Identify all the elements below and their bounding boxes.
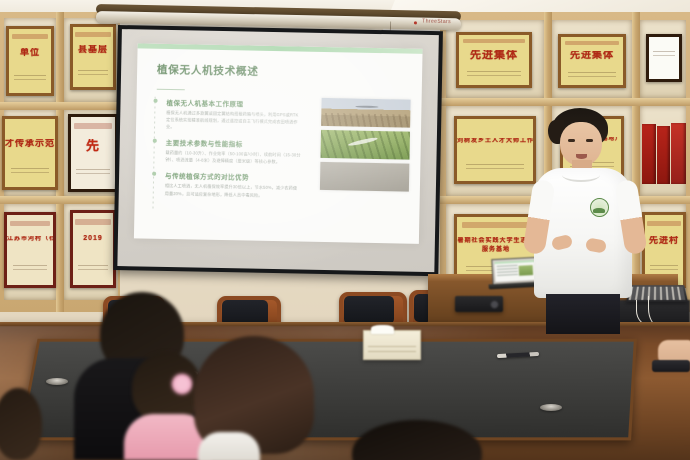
screen-surface: 植保无人机技术概述 植保无人机基本工作原理 植保无人机通过多旋翼或固定翼结构搭载… [117, 29, 438, 272]
presenter-eye-right [586, 139, 593, 142]
projection-screen: 植保无人机技术概述 植保无人机基本工作原理 植保无人机通过多旋翼或固定翼结构搭载… [113, 25, 443, 276]
slide-bullet-1: 植保无人机基本工作原理 植保无人机通过多旋翼或固定翼结构搭载药箱与喷头，利用GP… [153, 96, 302, 132]
plaque-left-mid: 才传承示范基地 [2, 116, 58, 190]
award-cabinet-left: 单位 县基层 才传承示范基地 先 江苏市河村（社区） 2019 [0, 12, 120, 312]
phone-on-table [652, 360, 690, 372]
conference-chair [344, 296, 394, 324]
plaque-text: 先进集体 [459, 50, 529, 65]
audience-left-edge [0, 388, 42, 460]
laptop-slide-text [497, 265, 518, 278]
bullet-body: 植保无人机通过多旋翼或固定翼结构搭载药箱与喷头，利用GPS或RTK定位系统实现精… [166, 109, 302, 133]
slide-image-drone-brown-field [321, 98, 410, 128]
bullet-dot-icon [152, 172, 156, 176]
audience-head [352, 420, 482, 460]
plaque-text: 先 [71, 139, 115, 161]
slide-accent-bar [137, 44, 422, 54]
slide-image-placeholder [320, 162, 409, 192]
bullet-dot-icon [153, 98, 157, 102]
plaque-left-top: 单位 [6, 26, 54, 96]
cable-grommet [46, 378, 68, 385]
plaque-text: 刘树发乡土人才大师工作室 [457, 138, 533, 157]
slide-bullet-2: 主要技术参数与性能指标 载药量约（10-30升）、作业效率（50-100亩/小时… [152, 137, 301, 166]
plaque-left-col2-bottom: 2019 [70, 210, 116, 288]
projected-slide: 植保无人机技术概述 植保无人机基本工作原理 植保无人机通过多旋翼或固定翼结构搭载… [134, 44, 423, 244]
plaque-right-top-2: 先进集体 [558, 34, 626, 88]
audience-white-top [198, 432, 260, 460]
plaque-left-col2-mid: 先 [68, 114, 118, 192]
cable-grommet [540, 404, 562, 411]
bullet-dot-icon [153, 139, 157, 143]
audience-foreground-head [352, 420, 482, 460]
presenter-mouth [576, 154, 587, 159]
bullet-heading: 与传统植保方式的对比优势 [165, 170, 301, 183]
presenter-trousers [546, 294, 620, 334]
slide-bullet-3: 与传统植保方式的对比优势 相比人工喷洒，无人机植保效率提升30倍以上，节水50%… [152, 170, 301, 199]
plaque-text: 县基层 [73, 45, 113, 63]
plaque-text: 才传承示范基地 [5, 139, 55, 159]
bullet-body: 相比人工喷洒，无人机植保效率提升30倍以上，节水50%，减少农药使用量20%，且… [165, 182, 301, 199]
meeting-room-photo: 单位 县基层 才传承示范基地 先 江苏市河村（社区） 2019 [0, 0, 690, 460]
plaque-text: 先进村 [645, 236, 683, 257]
brand-dot-icon [414, 21, 417, 24]
plaque-text: 单位 [9, 48, 51, 67]
plaque-text: 2019 [73, 235, 113, 257]
tissue-box [363, 330, 421, 360]
plaque-left-col2-top: 县基层 [70, 24, 116, 90]
slide-image-column [320, 98, 410, 196]
presenter-eye-left [568, 139, 575, 142]
bullet-heading: 植保无人机基本工作原理 [166, 97, 302, 110]
roller-brand-label: ThreeStars [422, 19, 451, 26]
tshirt-logo-icon [590, 198, 609, 217]
slide-bullet-list: 植保无人机基本工作原理 植保无人机通过多旋翼或固定翼结构搭载药箱与喷头，利用GP… [152, 96, 302, 206]
plaque-right-top-1: 先进集体 [456, 32, 532, 88]
slide-title-rule [157, 89, 186, 91]
presenter-collar [562, 168, 600, 182]
slide-image-drone-green-crops [321, 130, 410, 160]
plaque-left-bottom: 江苏市河村（社区） [4, 212, 56, 288]
audience-long-hair [188, 336, 318, 460]
plaque-text: 江苏市河村（社区） [7, 236, 53, 257]
presenter-standing [524, 108, 646, 323]
red-bound-books [642, 122, 686, 184]
bullet-heading: 主要技术参数与性能指标 [166, 137, 302, 150]
projector-unit [455, 296, 503, 312]
slide-title: 植保无人机技术概述 [157, 61, 259, 78]
tissue-box-label [368, 346, 415, 356]
plaque-text: 先进集体 [561, 51, 623, 65]
plaque-right-top-3 [646, 34, 682, 82]
bullet-body: 载药量约（10-30升）、作业效率（50-100亩/小时）、续航时间（15-30… [165, 149, 301, 166]
audience-head [0, 388, 42, 460]
